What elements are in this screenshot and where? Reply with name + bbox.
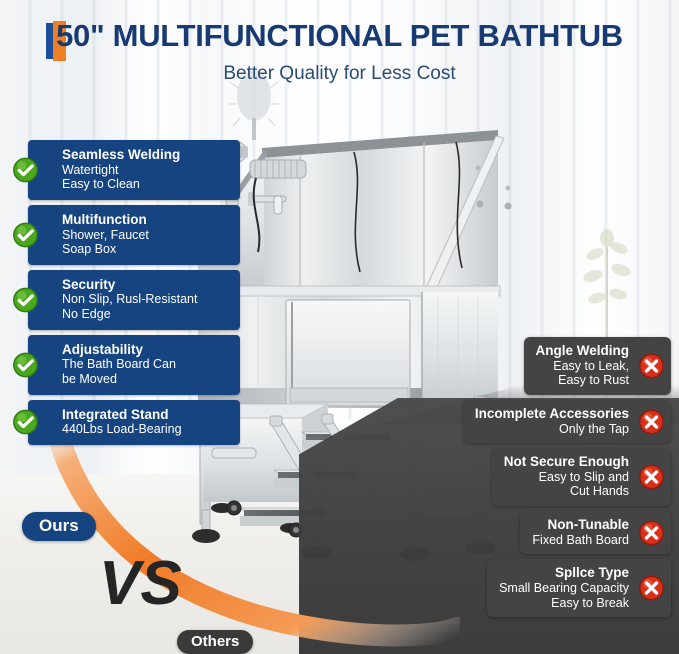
list-item[interactable]: Non-Tunable Fixed Bath Board [379, 511, 679, 554]
con-line: Only the Tap [475, 422, 629, 437]
pro-line: No Edge [62, 307, 232, 322]
con-line: Fixed Bath Board [532, 533, 629, 548]
page-subtitle: Better Quality for Less Cost [0, 63, 679, 85]
versus-label: VS [99, 549, 182, 614]
versus-mark: VS [96, 548, 196, 614]
cross-circle-icon [638, 464, 665, 491]
pros-list: Seamless Welding Watertight Easy to Clea… [0, 140, 240, 450]
con-line: Easy to Leak, [536, 359, 630, 374]
pro-heading: Security [62, 277, 232, 293]
con-line: Cut Hands [504, 484, 629, 499]
pro-box: Adjustability The Bath Board Can be Move… [28, 335, 240, 395]
header: 50" MULTIFUNCTIONAL PET BATHTUB Better Q… [0, 0, 679, 85]
check-circle-icon [12, 286, 39, 313]
check-circle-icon [12, 409, 39, 436]
list-item[interactable]: Not Secure Enough Easy to Slip and Cut H… [379, 448, 679, 506]
pro-line: Shower, Faucet [62, 228, 232, 243]
check-circle-icon [12, 351, 39, 378]
con-heading: Incomplete Accessories [475, 406, 629, 422]
con-heading: Not Secure Enough [504, 454, 629, 470]
pro-heading: Adjustability [62, 342, 232, 358]
pro-heading: Seamless Welding [62, 147, 232, 163]
title-row: 50" MULTIFUNCTIONAL PET BATHTUB [56, 18, 623, 54]
cross-circle-icon [638, 575, 665, 602]
pro-line: Easy to Clean [62, 177, 232, 192]
con-heading: Angle Welding [536, 343, 630, 359]
pro-box: Integrated Stand 440Lbs Load-Bearing [28, 400, 240, 445]
list-item[interactable]: Incomplete Accessories Only the Tap [379, 400, 679, 443]
con-heading: Spllce Type [499, 565, 629, 581]
check-circle-icon [12, 221, 39, 248]
pro-line: Soap Box [62, 242, 232, 257]
list-item[interactable]: Integrated Stand 440Lbs Load-Bearing [0, 400, 240, 445]
pro-line: Watertight [62, 163, 232, 178]
pro-line: be Moved [62, 372, 232, 387]
cross-circle-icon [638, 352, 665, 379]
badge-others: Others [177, 630, 253, 654]
pro-line: Non Slip, Rusl-Resistant [62, 292, 232, 307]
list-item[interactable]: Security Non Slip, Rusl-Resistant No Edg… [0, 270, 240, 330]
list-item[interactable]: Multifunction Shower, Faucet Soap Box [0, 205, 240, 265]
plant-decor [561, 210, 649, 340]
badge-ours: Ours [22, 512, 96, 541]
pro-heading: Integrated Stand [62, 407, 232, 423]
page-title: 50" MULTIFUNCTIONAL PET BATHTUB [56, 18, 623, 54]
pro-heading: Multifunction [62, 212, 232, 228]
list-item[interactable]: Seamless Welding Watertight Easy to Clea… [0, 140, 240, 200]
check-circle-icon [12, 156, 39, 183]
con-heading: Non-Tunable [532, 517, 629, 533]
cons-list: Angle Welding Easy to Leak, Easy to Rust… [379, 337, 679, 622]
list-item[interactable]: Spllce Type Small Bearing Capacity Easy … [379, 559, 679, 617]
infographic-stage: 50" MULTIFUNCTIONAL PET BATHTUB Better Q… [0, 0, 679, 654]
con-line: Easy to Slip and [504, 470, 629, 485]
pro-line: The Bath Board Can [62, 357, 232, 372]
list-item[interactable]: Angle Welding Easy to Leak, Easy to Rust [379, 337, 679, 395]
con-line: Easy to Rust [536, 373, 630, 388]
pro-box: Seamless Welding Watertight Easy to Clea… [28, 140, 240, 200]
cross-circle-icon [638, 519, 665, 546]
pro-box: Security Non Slip, Rusl-Resistant No Edg… [28, 270, 240, 330]
cross-circle-icon [638, 408, 665, 435]
accent-bar-blue [46, 23, 53, 59]
con-line: Small Bearing Capacity [499, 581, 629, 596]
pro-line: 440Lbs Load-Bearing [62, 422, 232, 437]
con-line: Easy to Break [499, 596, 629, 611]
pro-box: Multifunction Shower, Faucet Soap Box [28, 205, 240, 265]
list-item[interactable]: Adjustability The Bath Board Can be Move… [0, 335, 240, 395]
